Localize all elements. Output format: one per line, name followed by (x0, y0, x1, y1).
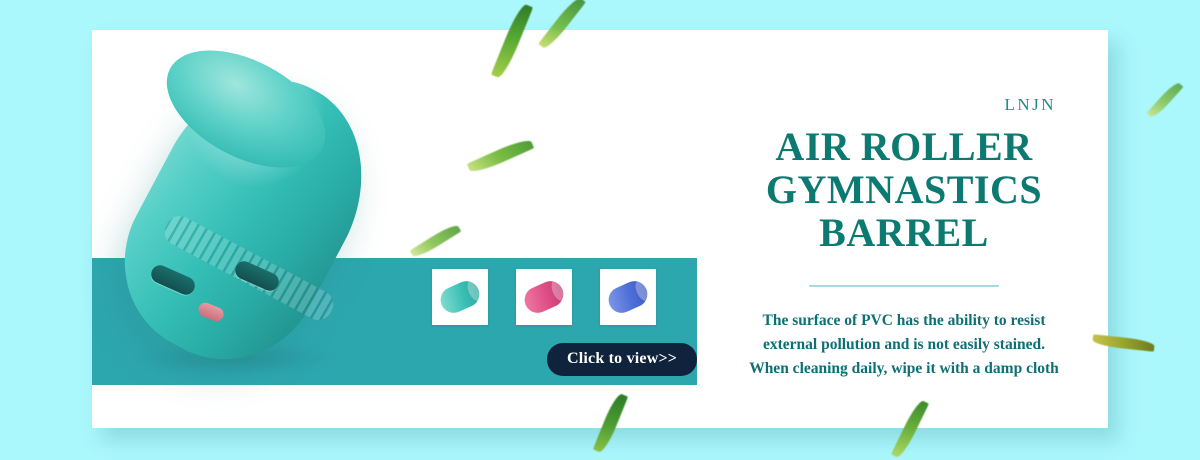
text-column: LNJN AIR ROLLER GYMNASTICS BARREL The su… (700, 95, 1108, 381)
thumbnail-teal[interactable] (432, 269, 488, 325)
leaf-icon (1147, 80, 1184, 119)
description-text: The surface of PVC has the ability to re… (720, 309, 1088, 381)
thumbnail-list (432, 269, 656, 325)
headline-line-2: GYMNASTICS BARREL (700, 168, 1108, 254)
page-title: AIR ROLLER GYMNASTICS BARREL (700, 125, 1108, 255)
brand-name: LNJN (700, 95, 1108, 115)
promo-banner: Click to view>> LNJN AIR ROLLER GYMNASTI… (0, 0, 1200, 460)
thumbnail-blue-image (604, 277, 651, 317)
description-line-3: When cleaning daily, wipe it with a damp… (720, 357, 1088, 381)
thumbnail-pink[interactable] (516, 269, 572, 325)
description-line-2: external pollution and is not easily sta… (720, 333, 1088, 357)
description-line-1: The surface of PVC has the ability to re… (720, 309, 1088, 333)
thumbnail-pink-image (520, 277, 567, 317)
divider (809, 285, 999, 287)
thumbnail-blue[interactable] (600, 269, 656, 325)
click-to-view-button[interactable]: Click to view>> (547, 343, 697, 376)
thumbnail-teal-image (436, 277, 483, 317)
headline-line-1: AIR ROLLER (775, 124, 1032, 169)
